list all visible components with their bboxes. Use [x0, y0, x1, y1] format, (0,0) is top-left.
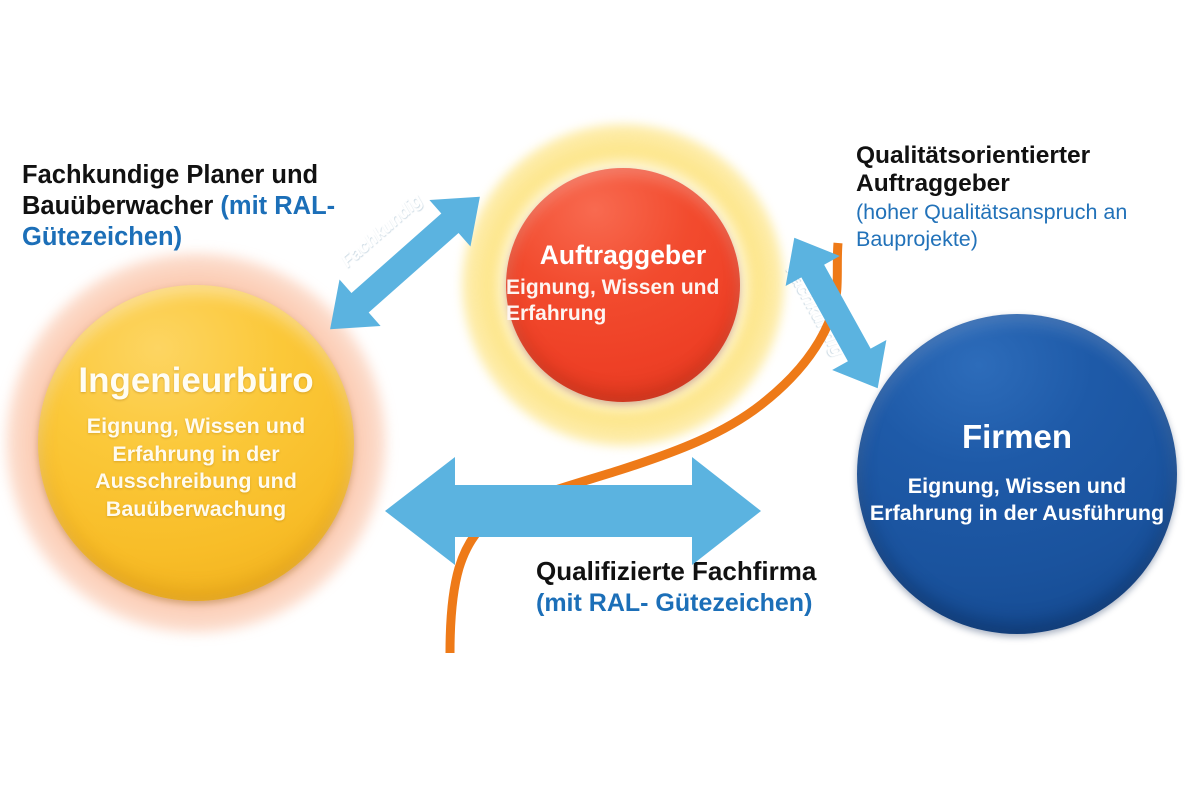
diagram-canvas: Ingenieurbüro Eignung, Wissen und Erfahr…: [0, 0, 1200, 799]
arrow-left-diagonal[interactable]: [310, 174, 501, 353]
arrow-layer: [0, 0, 1200, 799]
arrow-right-diagonal[interactable]: [767, 223, 905, 403]
arrow-bottom-horizontal[interactable]: [385, 457, 761, 565]
